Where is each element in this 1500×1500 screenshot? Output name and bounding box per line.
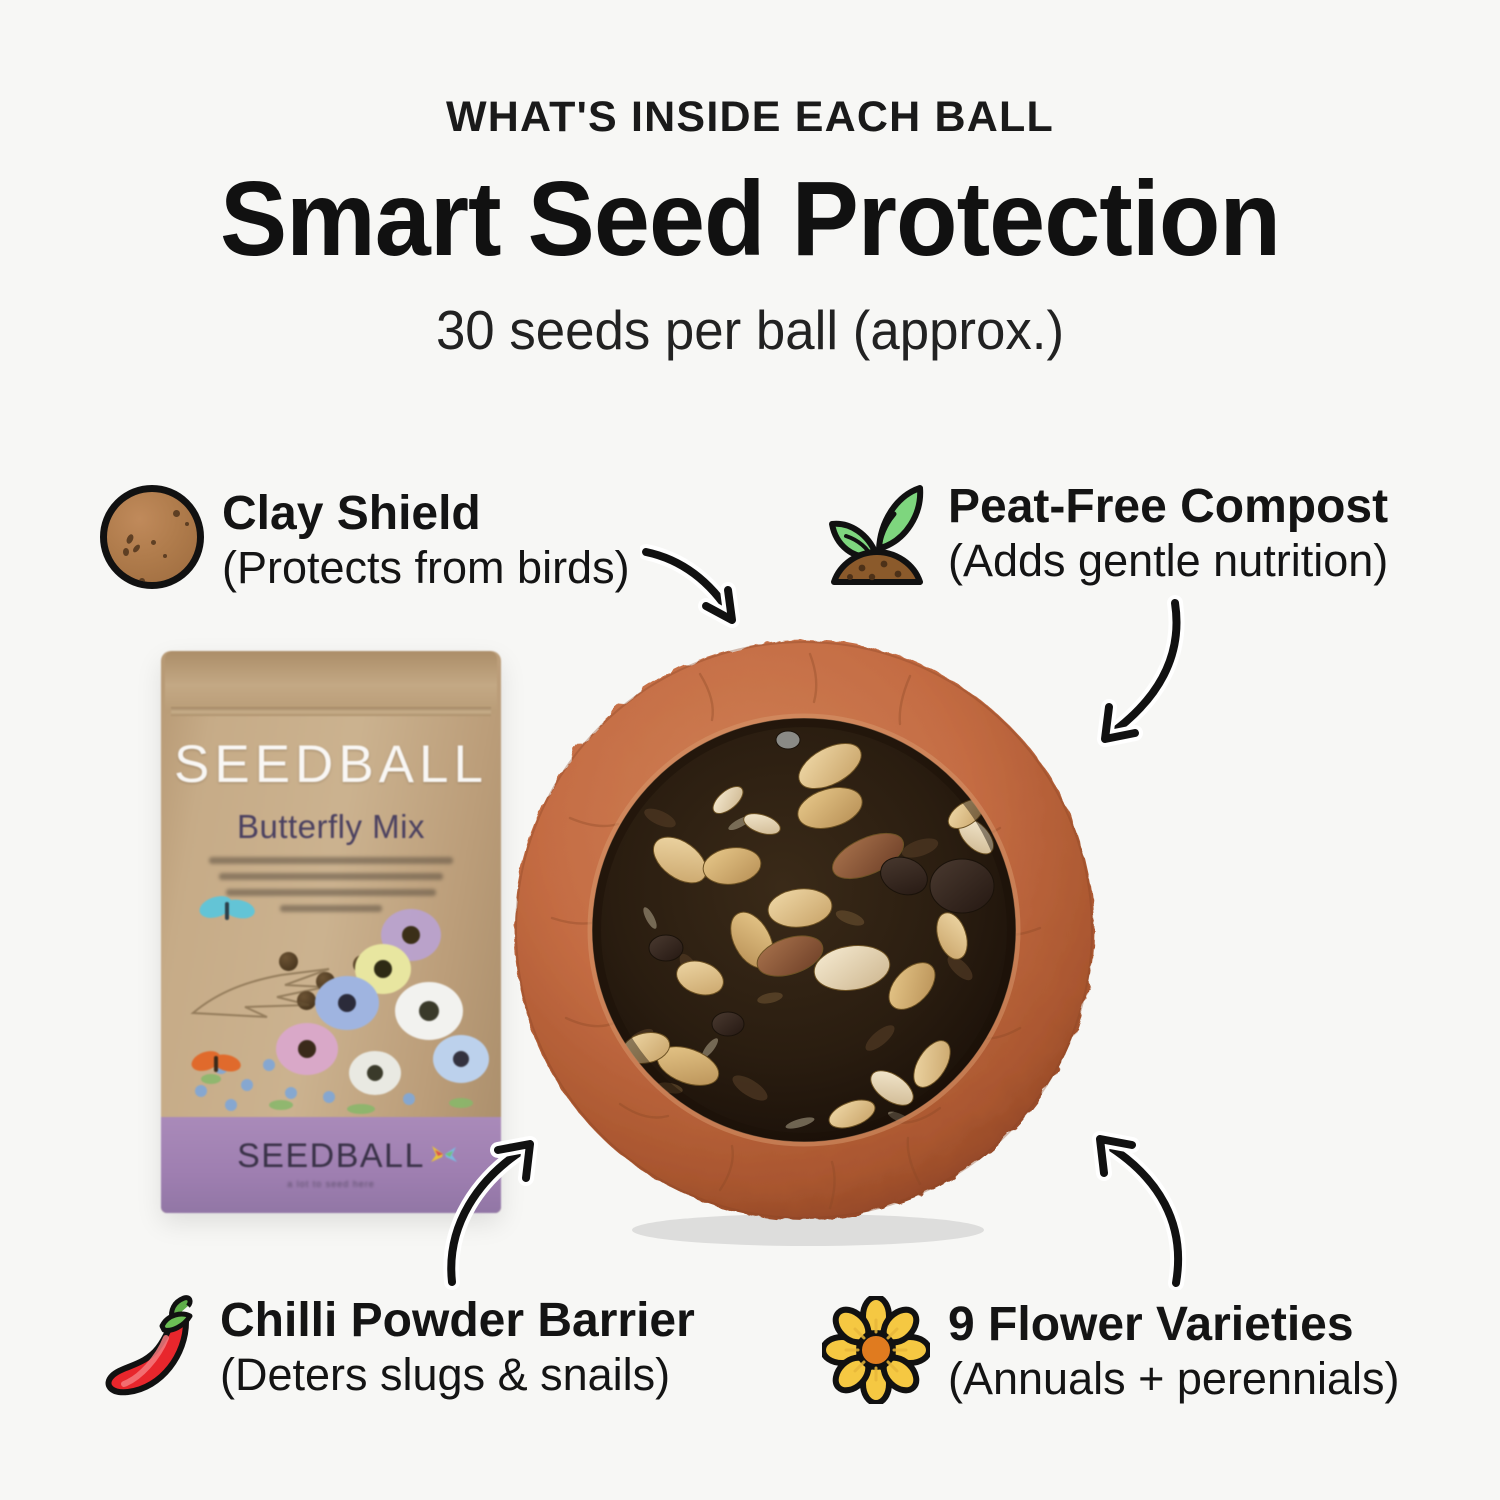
callout-title: Peat-Free Compost	[948, 482, 1388, 533]
packet-top-seal	[165, 651, 497, 713]
arrow-flowers-to-ball	[1070, 1125, 1210, 1290]
packet-brand-name: SEEDBALL	[161, 734, 501, 795]
clay-disc-icon	[100, 485, 204, 589]
callout-subtitle: (Deters slugs & snails)	[220, 1350, 695, 1400]
subtitle-text: 30 seeds per ball (approx.)	[30, 298, 1470, 362]
blossom-flower-icon	[822, 1296, 930, 1409]
seedball-packet: SEEDBALL Butterfly Mix	[161, 651, 501, 1213]
callout-subtitle: (Adds gentle nutrition)	[948, 536, 1388, 586]
callout-text-block: 9 Flower Varieties (Annuals + perennials…	[948, 1296, 1400, 1404]
callout-clay-shield: Clay Shield (Protects from birds)	[100, 485, 630, 593]
callout-flower-varieties: 9 Flower Varieties (Annuals + perennials…	[822, 1296, 1400, 1409]
packet-body: SEEDBALL Butterfly Mix	[161, 651, 501, 1213]
callout-subtitle: (Annuals + perennials)	[948, 1354, 1400, 1404]
callout-chilli-powder-barrier: Chilli Powder Barrier (Deters slugs & sn…	[100, 1292, 695, 1409]
callout-subtitle: (Protects from birds)	[222, 543, 630, 593]
infographic-canvas: WHAT'S INSIDE EACH BALL Smart Seed Prote…	[0, 0, 1500, 1500]
callout-text-block: Clay Shield (Protects from birds)	[222, 485, 630, 593]
callout-title: 9 Flower Varieties	[948, 1300, 1400, 1351]
callout-title: Chilli Powder Barrier	[220, 1296, 695, 1347]
callout-peat-free-compost: Peat-Free Compost (Adds gentle nutrition…	[824, 478, 1388, 593]
arrow-compost-to-ball	[1075, 595, 1205, 755]
arrow-clay-to-ball	[640, 540, 760, 635]
packet-blue-butterfly-icon	[197, 889, 259, 935]
seedball-cross-section	[500, 618, 1108, 1246]
packet-orange-butterfly-icon	[189, 1043, 247, 1087]
callout-text-block: Peat-Free Compost (Adds gentle nutrition…	[948, 478, 1388, 586]
eyebrow-text: WHAT'S INSIDE EACH BALL	[0, 93, 1500, 142]
page-title: Smart Seed Protection	[38, 160, 1463, 279]
packet-zipper	[171, 707, 491, 716]
arrow-chilli-to-ball	[420, 1130, 550, 1290]
callout-text-block: Chilli Powder Barrier (Deters slugs & sn…	[220, 1292, 695, 1400]
packet-variety-name: Butterfly Mix	[161, 808, 501, 846]
chili-pepper-icon	[100, 1292, 202, 1409]
seedling-icon	[824, 478, 930, 593]
callout-title: Clay Shield	[222, 489, 630, 540]
